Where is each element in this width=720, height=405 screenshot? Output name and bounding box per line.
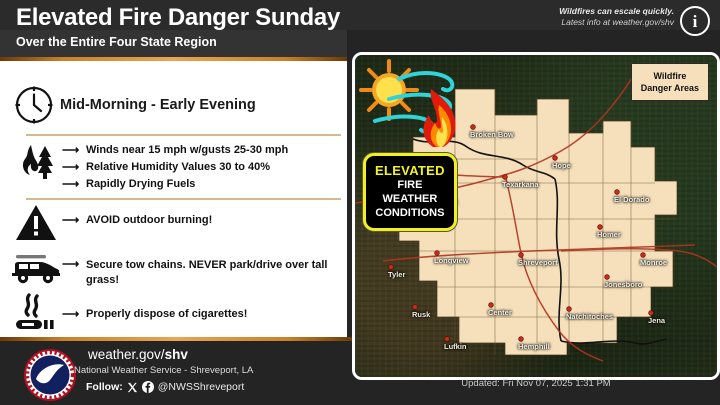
city-dot xyxy=(435,251,439,255)
vehicle-item-label: Secure tow chains. NEVER park/drive over… xyxy=(86,258,348,288)
city-dot xyxy=(445,337,449,341)
facebook-icon[interactable] xyxy=(142,381,154,393)
city-dot xyxy=(413,305,417,309)
city-label: Homer xyxy=(597,230,621,239)
footer-follow: Follow: @NWSShreveport xyxy=(86,381,244,393)
flame-icon xyxy=(423,89,455,147)
badge-line3: WEATHER xyxy=(375,192,445,206)
badge-line2: FIRE xyxy=(375,178,445,192)
city-label: Shreveport xyxy=(518,258,558,267)
footer-handle[interactable]: @NWSShreveport xyxy=(158,381,245,393)
city-label: Rusk xyxy=(412,310,430,319)
page-subtitle: Over the Entire Four State Region xyxy=(16,35,217,49)
city-label: Longview xyxy=(434,256,469,265)
conditions-item-label: Winds near 15 mph w/gusts 25-30 mph xyxy=(86,144,288,156)
map-panel[interactable]: Broken BowClarksvilleTexarkanaHopeMount … xyxy=(352,52,720,380)
vehicle-icon xyxy=(10,253,62,285)
legend-line1: Wildfire xyxy=(641,70,699,82)
city-dot xyxy=(519,253,523,257)
city-label: Hope xyxy=(552,161,571,170)
city-dot xyxy=(503,175,507,179)
divider-rule-1 xyxy=(26,134,341,136)
divider-rule-2 xyxy=(26,198,341,200)
timing-label: Mid-Morning - Early Evening xyxy=(60,97,256,113)
fire-tree-icon xyxy=(14,141,58,185)
city-label: Natchitoches xyxy=(566,312,613,321)
header-note-line2: Latest info at weather.gov/shv xyxy=(559,17,674,28)
header-note-line1: Wildfires can escale quickly. xyxy=(559,6,674,17)
city-label: Texarkana xyxy=(502,180,539,189)
clock-icon xyxy=(12,83,56,127)
city-dot xyxy=(615,190,619,194)
updated-timestamp: Updated: Fri Nov 07, 2025 1:31 PM xyxy=(352,378,720,389)
header-bar: Elevated Fire Danger Sunday Wildfires ca… xyxy=(0,0,720,30)
footer-office: National Weather Service - Shreveport, L… xyxy=(74,365,253,376)
city-dot xyxy=(389,265,393,269)
city-label: Jonesboro xyxy=(604,280,642,289)
cigarette-item-label: Properly dispose of cigarettes! xyxy=(86,308,247,320)
page-title: Elevated Fire Danger Sunday xyxy=(16,4,340,32)
city-label: El Dorado xyxy=(614,195,649,204)
city-dot xyxy=(649,311,653,315)
city-dot xyxy=(605,275,609,279)
city-dot xyxy=(567,307,571,311)
arrow-icon: ⟶ xyxy=(62,257,79,271)
city-label: Monroe xyxy=(640,258,667,267)
conditions-item-label: Rapidly Drying Fuels xyxy=(86,178,195,190)
info-icon[interactable]: i xyxy=(680,6,710,36)
city-label: Center xyxy=(488,308,512,317)
city-label: Hemphill xyxy=(518,342,550,351)
weather-graphic: Elevated Fire Danger Sunday Wildfires ca… xyxy=(0,0,720,405)
arrow-icon: ⟶ xyxy=(62,177,79,191)
city-dot xyxy=(641,253,645,257)
city-dot xyxy=(553,156,557,160)
city-label: Tyler xyxy=(388,270,405,279)
x-twitter-icon[interactable] xyxy=(127,382,138,393)
subtitle-bar: Over the Entire Four State Region xyxy=(0,30,347,57)
sun-icon xyxy=(361,61,417,119)
footer-follow-label: Follow: xyxy=(86,381,123,393)
arrow-icon: ⟶ xyxy=(62,160,79,174)
legend-line2: Danger Areas xyxy=(641,82,699,94)
elevated-conditions-badge: ELEVATED FIRE WEATHER CONDITIONS xyxy=(363,153,457,231)
info-panel: Mid-Morning - Early Evening ⟶ Winds near… xyxy=(0,61,347,337)
warning-item-label: AVOID outdoor burning! xyxy=(86,214,212,226)
city-dot xyxy=(519,337,523,341)
footer-url-prefix: weather.gov/ xyxy=(88,347,165,362)
city-dot xyxy=(489,303,493,307)
badge-line1: ELEVATED xyxy=(375,164,445,178)
city-dot xyxy=(598,225,602,229)
city-label: Jena xyxy=(648,316,665,325)
warning-triangle-icon xyxy=(14,203,58,243)
footer: weather.gov/shv National Weather Service… xyxy=(0,341,352,405)
header-note: Wildfires can escale quickly. Latest inf… xyxy=(559,6,674,28)
weather-illustration xyxy=(359,59,477,151)
arrow-icon: ⟶ xyxy=(62,143,79,157)
arrow-icon: ⟶ xyxy=(62,307,79,321)
conditions-item-label: Relative Humidity Values 30 to 40% xyxy=(86,161,270,173)
arrow-icon: ⟶ xyxy=(62,213,79,227)
badge-line4: CONDITIONS xyxy=(375,206,445,220)
map-legend: Wildfire Danger Areas xyxy=(631,63,709,101)
footer-url-suffix: shv xyxy=(165,347,188,362)
cigarette-icon xyxy=(14,293,60,333)
city-label: Lufkin xyxy=(444,342,467,351)
nws-logo xyxy=(24,349,76,401)
footer-url[interactable]: weather.gov/shv xyxy=(88,347,188,362)
